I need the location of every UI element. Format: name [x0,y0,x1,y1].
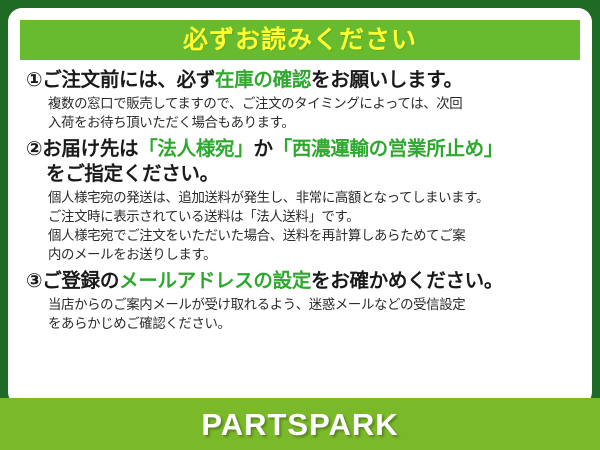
notice-item-1-subtext: 複数の窓口で販売してますので、ご注文のタイミングによっては、次回 入荷をお待ち頂… [26,94,576,132]
notice-item-2-subtext-line-2: ご注文時に表示されている送料は「法人送料」です。 [48,207,576,226]
notice-item-1: ①ご注文前には、必ず在庫の確認をお願いします。 複数の窓口で販売してますので、ご… [26,68,576,132]
notice-item-1-heading-emphasis: 在庫の確認 [215,69,311,91]
notice-item-3-heading: ③ご登録のメールアドレスの設定をお確かめください。 [26,269,576,294]
notice-item-3-heading-part-1: ご登録の [42,270,119,292]
header-banner: 必ずお読みください [20,20,580,60]
notice-item-3-heading-part-3: をお確かめください。 [311,270,503,292]
notice-item-3-number: ③ [26,270,42,292]
notice-item-2-subtext-line-1: 個人様宅宛の発送は、追加送料が発生し、非常に高額となってしまいます。 [48,188,576,207]
notice-item-2-subtext-line-3: 個人様宅宛でご注文をいただいた場合、送料を再計算しあらためてご案 [48,226,576,245]
notice-item-1-heading-part-3: をお願いします。 [311,69,463,91]
notice-item-3-subtext: 当店からのご案内メールが受け取れるよう、迷惑メールなどの受信設定 をあらかじめご… [26,295,576,333]
notice-item-2-subtext: 個人様宅宛の発送は、追加送料が発生し、非常に高額となってしまいます。 ご注文時に… [26,188,576,264]
notice-item-2-heading-part-1: お届け先は [42,138,138,160]
notice-item-1-heading: ①ご注文前には、必ず在庫の確認をお願いします。 [26,68,576,93]
notice-item-2-heading-part-3: か [253,138,272,160]
notice-item-3-subtext-line-1: 当店からのご案内メールが受け取れるよう、迷惑メールなどの受信設定 [48,295,576,314]
notice-item-1-subtext-line-2: 入荷をお待ち頂いただく場合もあります。 [48,113,576,132]
notice-item-3: ③ご登録のメールアドレスの設定をお確かめください。 当店からのご案内メールが受け… [26,269,576,333]
footer-band: PARTSPARK [0,398,600,450]
notice-item-2-heading: ②お届け先は「法人様宛」か「西濃運輸の営業所止め」 [26,137,576,162]
notice-item-3-heading-emphasis: メールアドレスの設定 [119,270,311,292]
notice-frame: 必ずお読みください ①ご注文前には、必ず在庫の確認をお願いします。 複数の窓口で… [0,0,600,450]
notice-item-2-heading-emphasis-1: 「法人様宛」 [138,138,253,160]
notice-body: ①ご注文前には、必ず在庫の確認をお願いします。 複数の窓口で販売してますので、ご… [20,60,580,333]
notice-item-1-heading-part-1: ご注文前には、必ず [42,69,215,91]
notice-item-1-subtext-line-1: 複数の窓口で販売してますので、ご注文のタイミングによっては、次回 [48,94,576,113]
notice-item-2-heading-line-2: をご指定ください。 [26,162,576,187]
page-title: 必ずお読みください [183,28,417,53]
notice-panel: 必ずお読みください ①ご注文前には、必ず在庫の確認をお願いします。 複数の窓口で… [8,8,592,406]
notice-item-2-heading-emphasis-2: 「西濃運輸の営業所止め」 [273,138,503,160]
notice-item-3-subtext-line-2: をあらかじめご確認ください。 [48,314,576,333]
notice-item-1-number: ① [26,69,42,91]
brand-logo: PARTSPARK [201,409,398,440]
notice-item-2: ②お届け先は「法人様宛」か「西濃運輸の営業所止め」 をご指定ください。 個人様宅… [26,137,576,264]
notice-item-2-number: ② [26,138,42,160]
notice-item-2-subtext-line-4: 内のメールをお送りします。 [48,245,576,264]
